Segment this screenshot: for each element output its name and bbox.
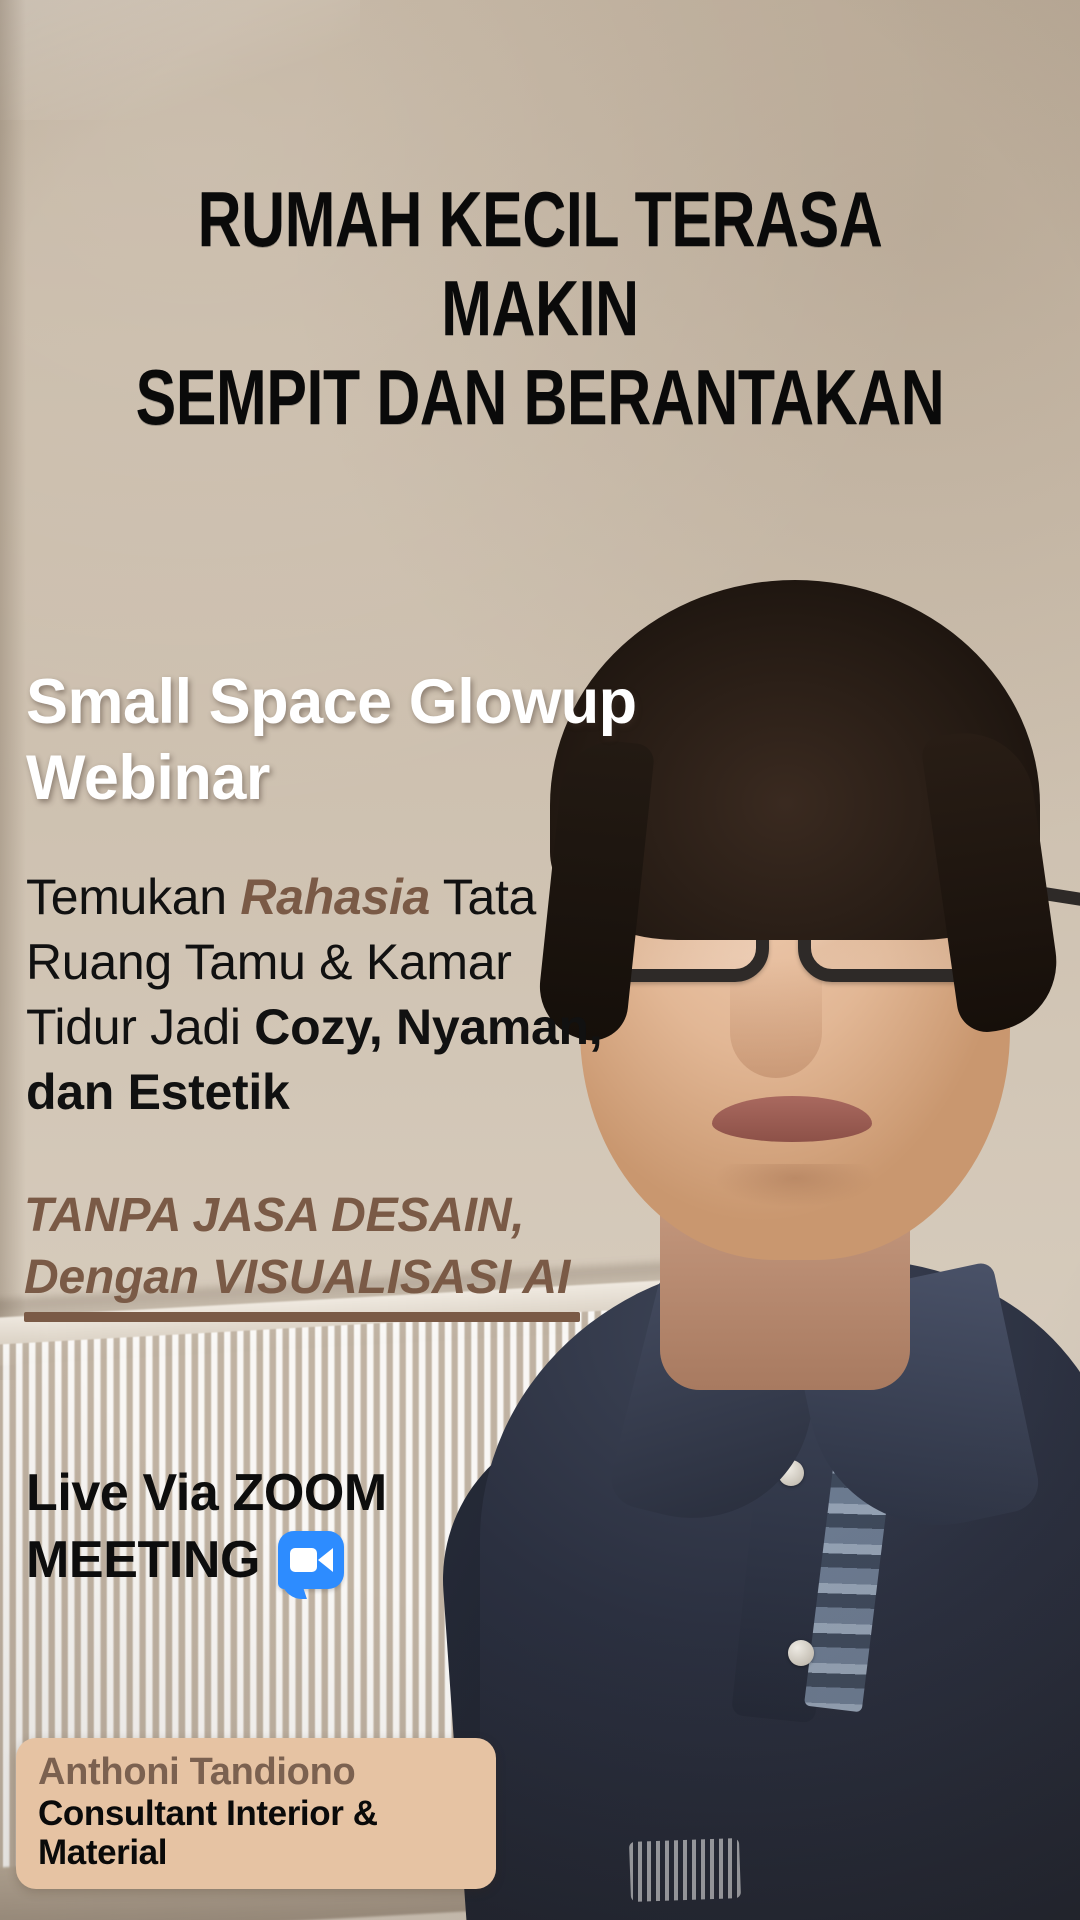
callout-line-1: TANPA JASA DESAIN, bbox=[24, 1185, 624, 1247]
headline-line-2: SEMPIT DAN BERANTAKAN bbox=[119, 353, 961, 442]
headline-line-1: RUMAH KECIL TERASA MAKIN bbox=[198, 175, 883, 352]
zoom-camera-lens bbox=[318, 1548, 333, 1572]
zoom-line-2-row: MEETING bbox=[26, 1527, 586, 1594]
presenter-badge: Anthoni Tandiono Consultant Interior & M… bbox=[16, 1738, 496, 1889]
chin-shadow bbox=[680, 1164, 910, 1234]
shirt-button-bottom bbox=[788, 1640, 814, 1666]
presenter-role: Consultant Interior & Material bbox=[38, 1794, 474, 1872]
zoom-info: Live Via ZOOM MEETING bbox=[26, 1460, 586, 1593]
callout-text: TANPA JASA DESAIN, Dengan VISUALISASI AI bbox=[24, 1185, 624, 1310]
zoom-camera-body bbox=[290, 1548, 317, 1572]
body-emphasis-rahasia: Rahasia bbox=[240, 869, 430, 925]
ceiling-highlight bbox=[0, 0, 360, 120]
zoom-line-2: MEETING bbox=[26, 1527, 260, 1594]
body-segment-1: Temukan bbox=[26, 869, 240, 925]
headline: RUMAH KECIL TERASA MAKIN SEMPIT DAN BERA… bbox=[119, 175, 961, 442]
wall-left-shading bbox=[0, 0, 26, 1380]
mouth bbox=[712, 1096, 872, 1142]
zoom-line-1: Live Via ZOOM bbox=[26, 1460, 586, 1527]
callout-underline bbox=[24, 1312, 580, 1322]
shirt-emblem bbox=[629, 1838, 741, 1902]
webinar-promo-poster: RUMAH KECIL TERASA MAKIN SEMPIT DAN BERA… bbox=[0, 0, 1080, 1920]
body-copy: Temukan Rahasia Tata Ruang Tamu & Kamar … bbox=[26, 865, 606, 1125]
webinar-title: Small Space Glowup Webinar bbox=[26, 665, 726, 816]
zoom-video-icon bbox=[278, 1531, 344, 1589]
presenter-name: Anthoni Tandiono bbox=[38, 1752, 474, 1792]
callout-line-2: Dengan VISUALISASI AI bbox=[24, 1247, 624, 1309]
